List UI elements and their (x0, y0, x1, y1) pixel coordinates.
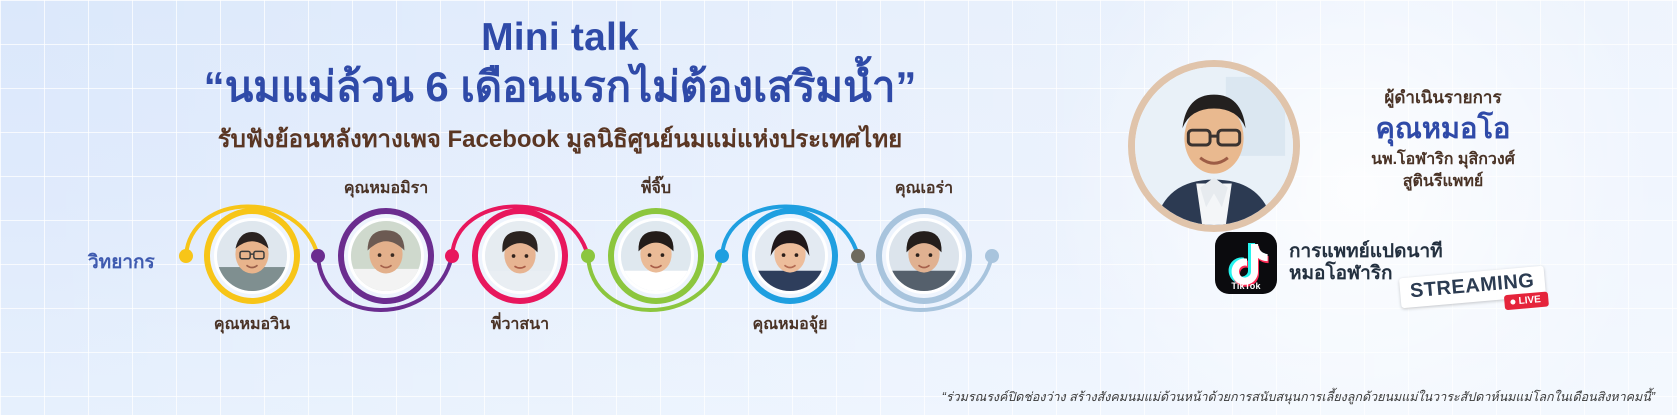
speaker-3-avatar (482, 218, 558, 294)
speaker-6-avatar (886, 218, 962, 294)
page-title: Mini talk (0, 18, 1120, 59)
host-full-name: นพ.โอฬาริก มุสิกวงศ์ (1318, 149, 1568, 171)
speaker-2-avatar (348, 218, 424, 294)
host-specialty: สูตินรีแพทย์ (1318, 171, 1568, 193)
headline-block: Mini talk “นมแม่ล้วน 6 เดือนแรกไม่ต้องเส… (0, 18, 1120, 155)
tiktok-icon[interactable]: TikTok (1215, 232, 1277, 294)
channel-name-line1: การแพทย์แปดนาที (1289, 241, 1443, 263)
mini-talk-banner: Mini talk “นมแม่ล้วน 6 เดือนแรกไม่ต้องเส… (0, 0, 1677, 415)
speaker-1-name: คุณหมอวิน (172, 312, 332, 337)
live-badge: LIVE (1504, 291, 1548, 310)
speaker-3-name: พี่วาสนา (440, 312, 600, 337)
speaker-6-name: คุณเอร่า (844, 176, 1004, 201)
speaker-5-name: คุณหมอจุ้ย (710, 312, 870, 337)
speaker-4-avatar (618, 218, 694, 294)
speaker-4-name: พี่จิ๊บ (576, 176, 736, 201)
host-nickname: คุณหมอโอ (1318, 113, 1568, 146)
speaker-timeline: คุณหมอวิน คุณหมอมิรา พี่วาสนา พี่จิ๊บ (0, 178, 1060, 343)
speaker-1-avatar (214, 218, 290, 294)
speaker-2-name: คุณหมอมิรา (306, 176, 466, 201)
live-label: LIVE (1518, 294, 1541, 307)
headline-quote: “นมแม่ล้วน 6 เดือนแรกไม่ต้องเสริมน้ำ” (0, 61, 1120, 112)
host-avatar (1128, 60, 1300, 232)
live-dot-icon (1511, 299, 1516, 304)
tiktok-wordmark: TikTok (1215, 281, 1277, 291)
host-details: ผู้ดำเนินรายการ คุณหมอโอ นพ.โอฬาริก มุสิ… (1318, 84, 1568, 193)
host-role: ผู้ดำเนินรายการ (1318, 84, 1568, 111)
speaker-5-avatar (752, 218, 828, 294)
host-photo (1135, 67, 1293, 225)
headline-subtitle: รับฟังย้อนหลังทางเพจ Facebook มูลนิธิศูน… (0, 126, 1120, 155)
footer-note: “ร่วมรณรงค์ปิดช่องว่าง สร้างสังคมนมแม่ด้… (942, 387, 1655, 407)
